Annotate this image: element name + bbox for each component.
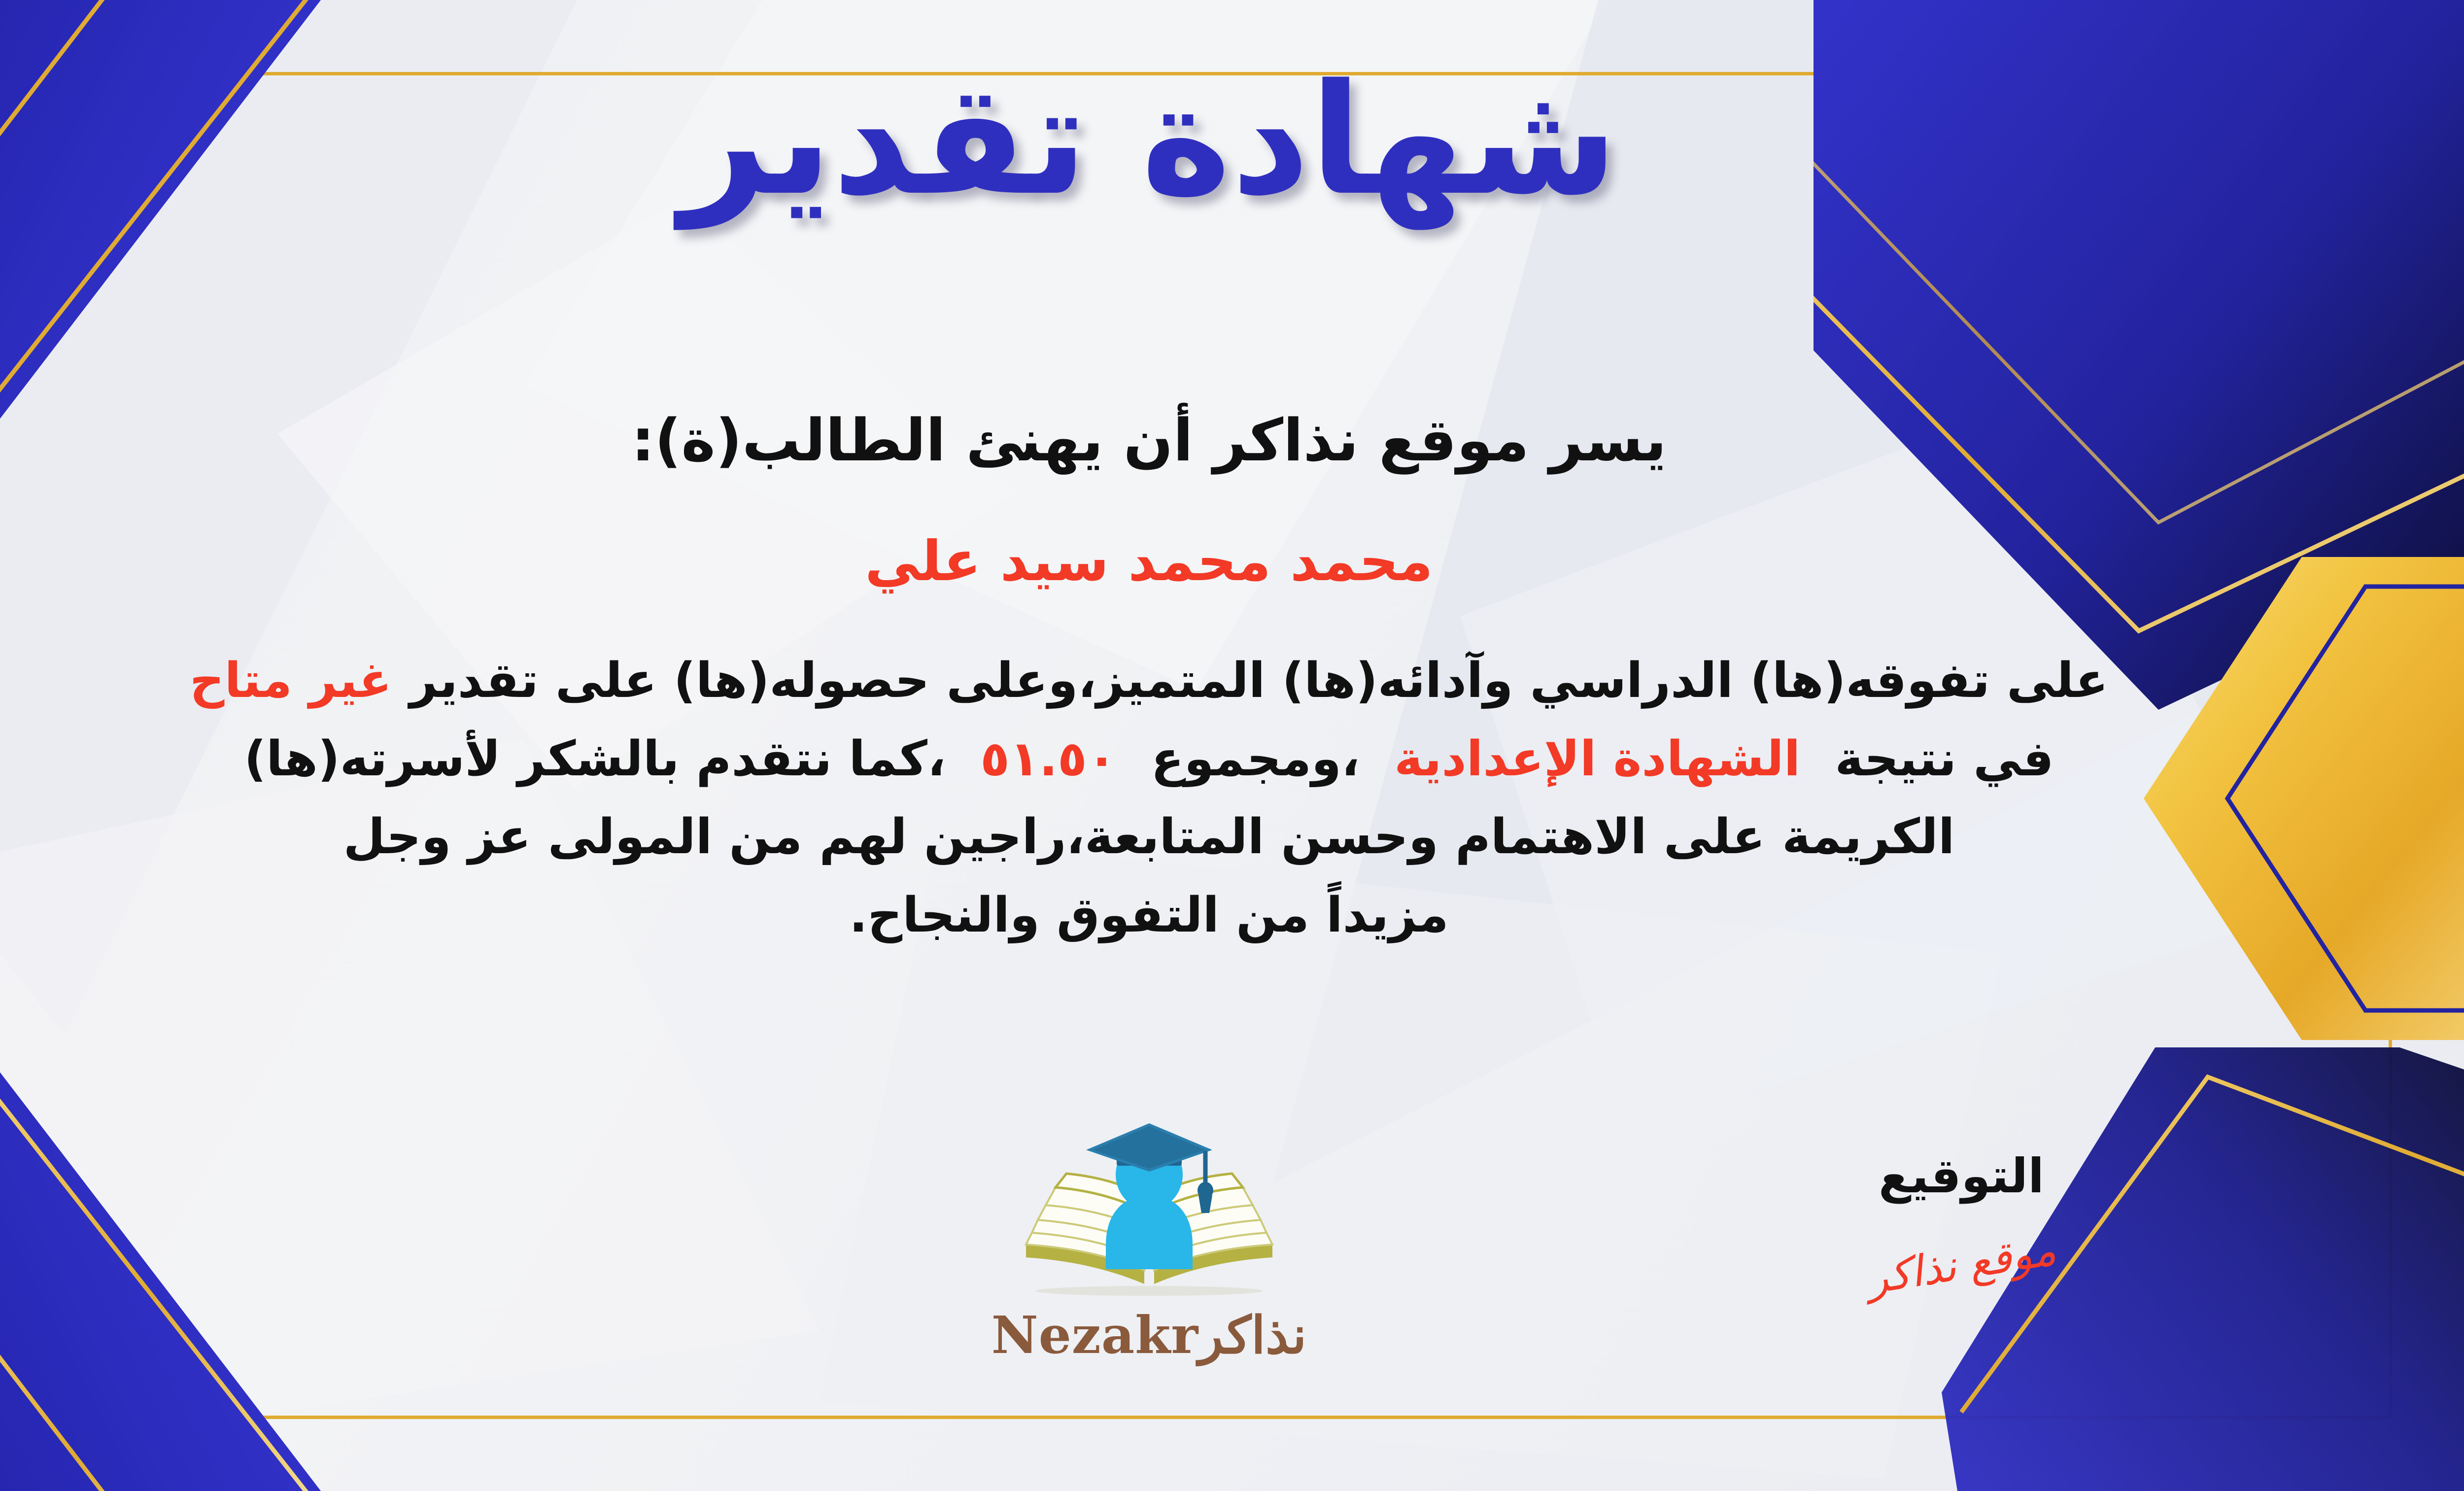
certificate-paragraph: على تفوقه(ها) الدراسي وآدائه(ها) المتميز…: [0, 642, 2316, 955]
certificate-title-area: شهادة تقدير: [0, 64, 2464, 217]
logo-latin-name: Nezakr: [992, 1305, 1199, 1365]
graduate-book-logo-icon: [996, 1121, 1302, 1309]
logo-arabic-name: نذاكر: [1198, 1305, 1306, 1365]
certificate-type: الشهادة الإعدادية: [1394, 731, 1800, 787]
grade-value: غير متاح: [190, 653, 392, 709]
paragraph-part-5: الكريمة على الاهتمام وحسن المتابعة،راجين…: [343, 809, 1955, 865]
certificate-page: شهادة تقدير يسر موقع نذاكر أن يهنئ الطال…: [0, 0, 2464, 1491]
paragraph-part-1: على تفوقه(ها) الدراسي وآدائه(ها) المتميز…: [410, 653, 2108, 709]
paragraph-part-3: ،ومجموع: [1151, 731, 1360, 787]
total-score: ٥١.٥٠: [980, 731, 1117, 787]
certificate-body: يسر موقع نذاكر أن يهنئ الطالب(ة): محمد م…: [0, 404, 2316, 955]
site-logo: نذاكرNezakr: [0, 1121, 2464, 1365]
paragraph-part-4: ،كما نتقدم بالشكر لأسرته(ها): [244, 731, 946, 787]
intro-line: يسر موقع نذاكر أن يهنئ الطالب(ة):: [0, 404, 2316, 477]
logo-wordmark: نذاكرNezakr: [992, 1305, 1307, 1365]
paragraph-part-2: في نتيجة: [1835, 731, 2053, 787]
student-name: محمد محمد سيد علي: [0, 528, 2316, 594]
paragraph-part-6: مزيداً من التفوق والنجاح.: [849, 887, 1448, 943]
page-title: شهادة تقدير: [680, 64, 1618, 217]
